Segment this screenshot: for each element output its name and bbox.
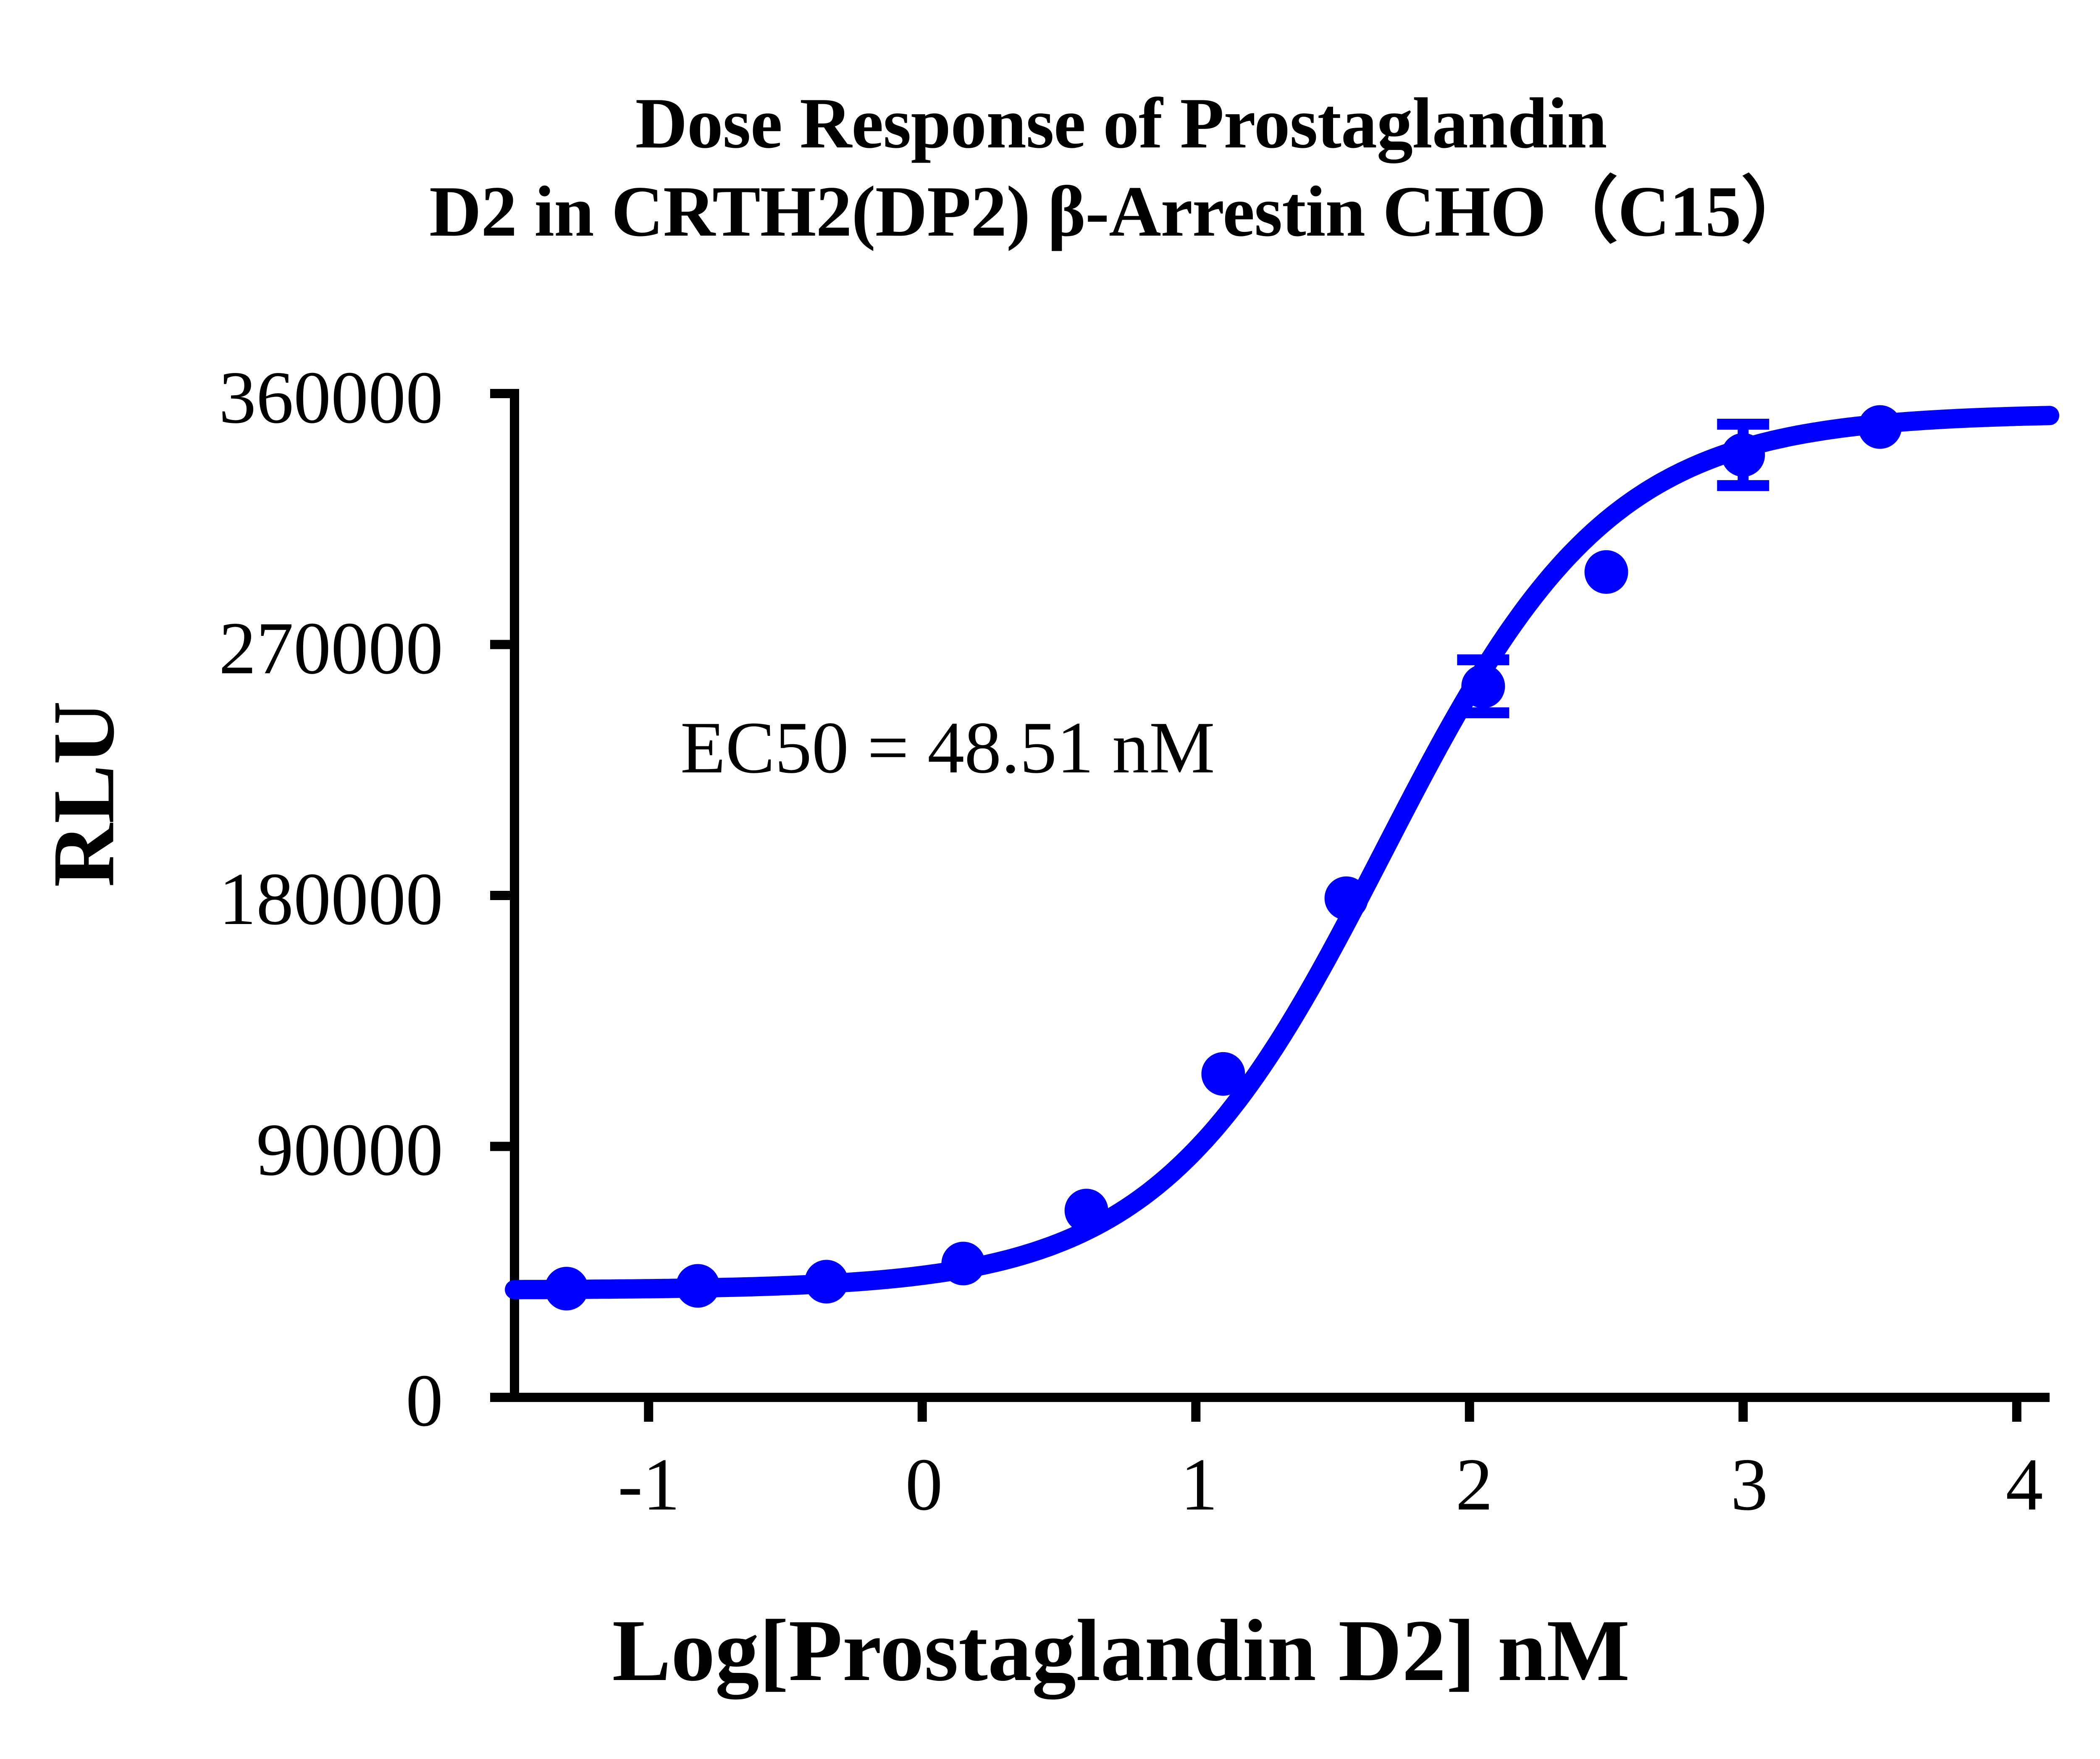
data-point-marker — [1325, 877, 1368, 920]
data-point-marker — [1721, 433, 1765, 477]
data-point-marker — [1065, 1189, 1108, 1232]
data-point-marker — [1461, 664, 1505, 708]
x-axis-title: Log[Prostaglandin D2] nM — [0, 1600, 2100, 1701]
x-tick-label-1: 1 — [1115, 1447, 1283, 1522]
fit-curve — [514, 415, 2050, 1289]
data-point-marker — [805, 1260, 848, 1303]
x-tick-label-neg1: -1 — [565, 1447, 733, 1522]
data-point-marker — [1858, 405, 1902, 449]
data-point-marker — [941, 1242, 985, 1285]
chart-figure: Dose Response of Prostaglandin D2 in CRT… — [0, 0, 2100, 1759]
data-point-marker — [1201, 1052, 1245, 1096]
error-bars-group — [1457, 424, 1769, 713]
data-point-marker — [676, 1264, 720, 1307]
data-markers-group — [545, 405, 1902, 1310]
chart-title: Dose Response of Prostaglandin D2 in CRT… — [0, 80, 2100, 256]
x-tick-label-0: 0 — [840, 1447, 1008, 1522]
chart-title-line-1: Dose Response of Prostaglandin — [0, 80, 2100, 168]
chart-title-line-2: D2 in CRTH2(DP2) β-Arrestin CHO（C15） — [0, 168, 2100, 256]
x-tick-label-2: 2 — [1390, 1447, 1558, 1522]
y-axis-title: RLU — [34, 458, 135, 1130]
data-point-marker — [545, 1267, 588, 1310]
fit-curve-group — [514, 415, 2050, 1289]
x-tick-label-3: 3 — [1665, 1447, 1833, 1522]
axes-group — [490, 389, 2050, 1422]
y-tick-label-0: 0 — [23, 1363, 443, 1438]
x-tick-label-4: 4 — [1940, 1447, 2100, 1522]
ec50-annotation: EC50 = 48.51 nM — [680, 706, 1215, 790]
y-tick-label-360000: 360000 — [23, 360, 443, 435]
data-point-marker — [1585, 550, 1628, 594]
